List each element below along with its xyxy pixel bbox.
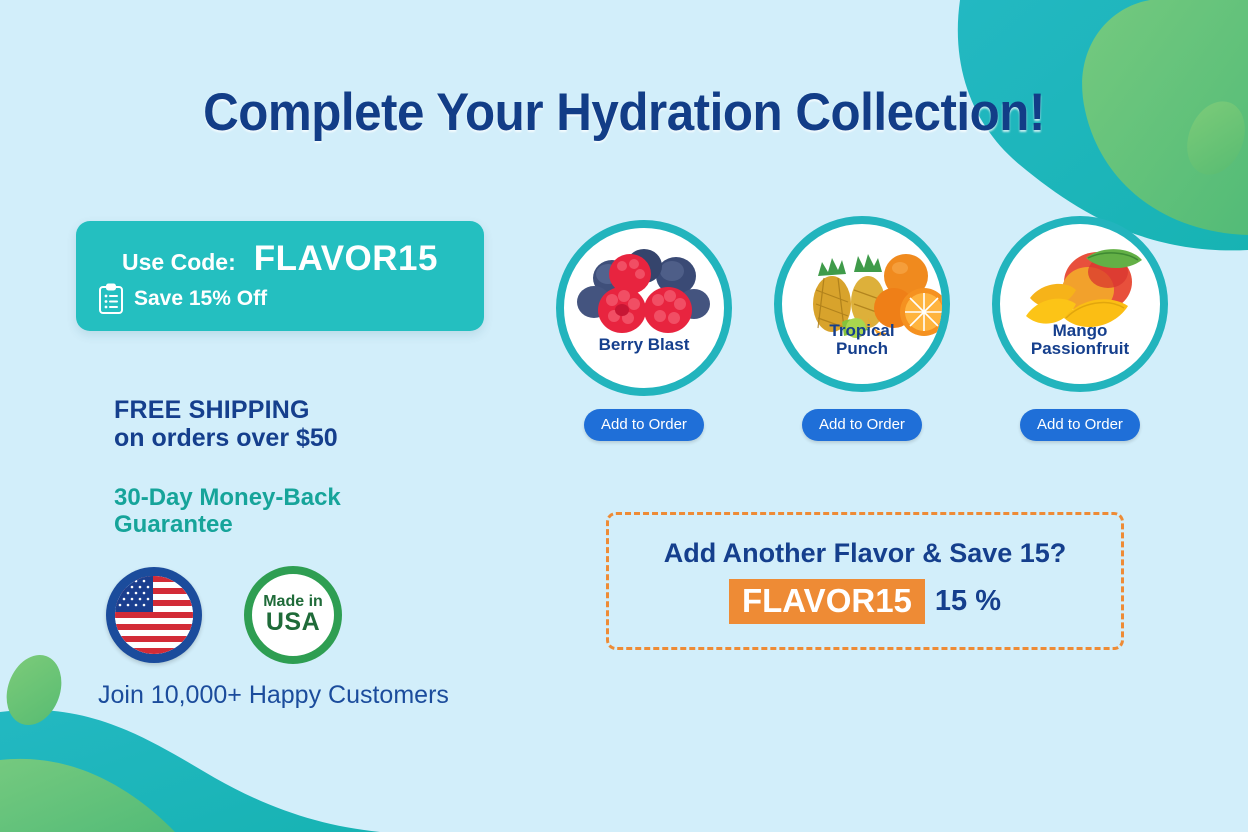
free-shipping-line2: on orders over $50	[114, 424, 444, 452]
money-back-benefit: 30-Day Money-Back Guarantee	[114, 485, 414, 539]
upsell-headline: Add Another Flavor & Save 15?	[664, 538, 1067, 569]
add-to-order-button-mango-passionfruit[interactable]: Add to Order	[1020, 409, 1140, 441]
add-to-order-button-tropical-punch[interactable]: Add to Order	[802, 409, 922, 441]
coupon-code: FLAVOR15	[254, 239, 438, 279]
guarantee-line2: Guarantee	[114, 512, 414, 539]
coupon-banner[interactable]: Use Code: FLAVOR15 Save 15% Off	[76, 221, 484, 331]
free-shipping-line1: FREE SHIPPING	[114, 396, 444, 424]
trust-badges: Made in USA	[106, 566, 342, 664]
social-proof-text: Join 10,000+ Happy Customers	[98, 681, 449, 710]
upsell-code-row: FLAVOR15 15 %	[729, 579, 1001, 625]
coupon-save-row: Save 15% Off	[98, 283, 267, 315]
clipboard-list-icon	[98, 283, 124, 315]
berries-image	[564, 236, 724, 348]
product-circle: Berry Blast	[556, 220, 732, 396]
promo-banner: Complete Your Hydration Collection! Use …	[0, 0, 1248, 832]
upsell-discount-percent: 15 %	[935, 585, 1001, 618]
add-to-order-button-berry-blast[interactable]: Add to Order	[584, 409, 704, 441]
free-shipping-benefit: FREE SHIPPING on orders over $50	[114, 396, 444, 452]
page-title: Complete Your Hydration Collection!	[44, 86, 1205, 139]
upsell-box[interactable]: Add Another Flavor & Save 15? FLAVOR15 1…	[606, 512, 1124, 650]
usa-label: USA	[266, 610, 320, 636]
coupon-code-row: Use Code: FLAVOR15	[76, 239, 484, 279]
product-list: Berry Blast Add to Order	[552, 220, 1172, 440]
guarantee-line1: 30-Day Money-Back	[114, 485, 414, 512]
product-name-line1: Tropical	[829, 321, 894, 340]
product-name-line2: Punch	[836, 339, 888, 358]
product-circle: Tropical Punch	[774, 216, 950, 392]
upsell-promo-code[interactable]: FLAVOR15	[729, 579, 925, 625]
coupon-save-label: Save 15% Off	[134, 287, 267, 311]
usa-flag-icon	[106, 567, 202, 663]
product-name: Mango Passionfruit	[1010, 322, 1150, 384]
product-card-tropical-punch[interactable]: Tropical Punch Add to Order	[772, 220, 952, 441]
made-in-usa-badge-icon: Made in USA	[244, 566, 342, 664]
flag-graphic	[115, 576, 193, 654]
product-name: Berry Blast	[574, 336, 714, 388]
product-circle: Mango Passionfruit	[992, 216, 1168, 392]
product-card-mango-passionfruit[interactable]: Mango Passionfruit Add to Order	[990, 220, 1170, 441]
product-name: Tropical Punch	[792, 322, 932, 384]
product-card-berry-blast[interactable]: Berry Blast Add to Order	[554, 220, 734, 441]
product-name-line1: Berry Blast	[599, 335, 690, 354]
product-name-line1: Mango	[1053, 321, 1108, 340]
product-name-line2: Passionfruit	[1031, 339, 1129, 358]
coupon-use-label: Use Code:	[122, 249, 236, 276]
